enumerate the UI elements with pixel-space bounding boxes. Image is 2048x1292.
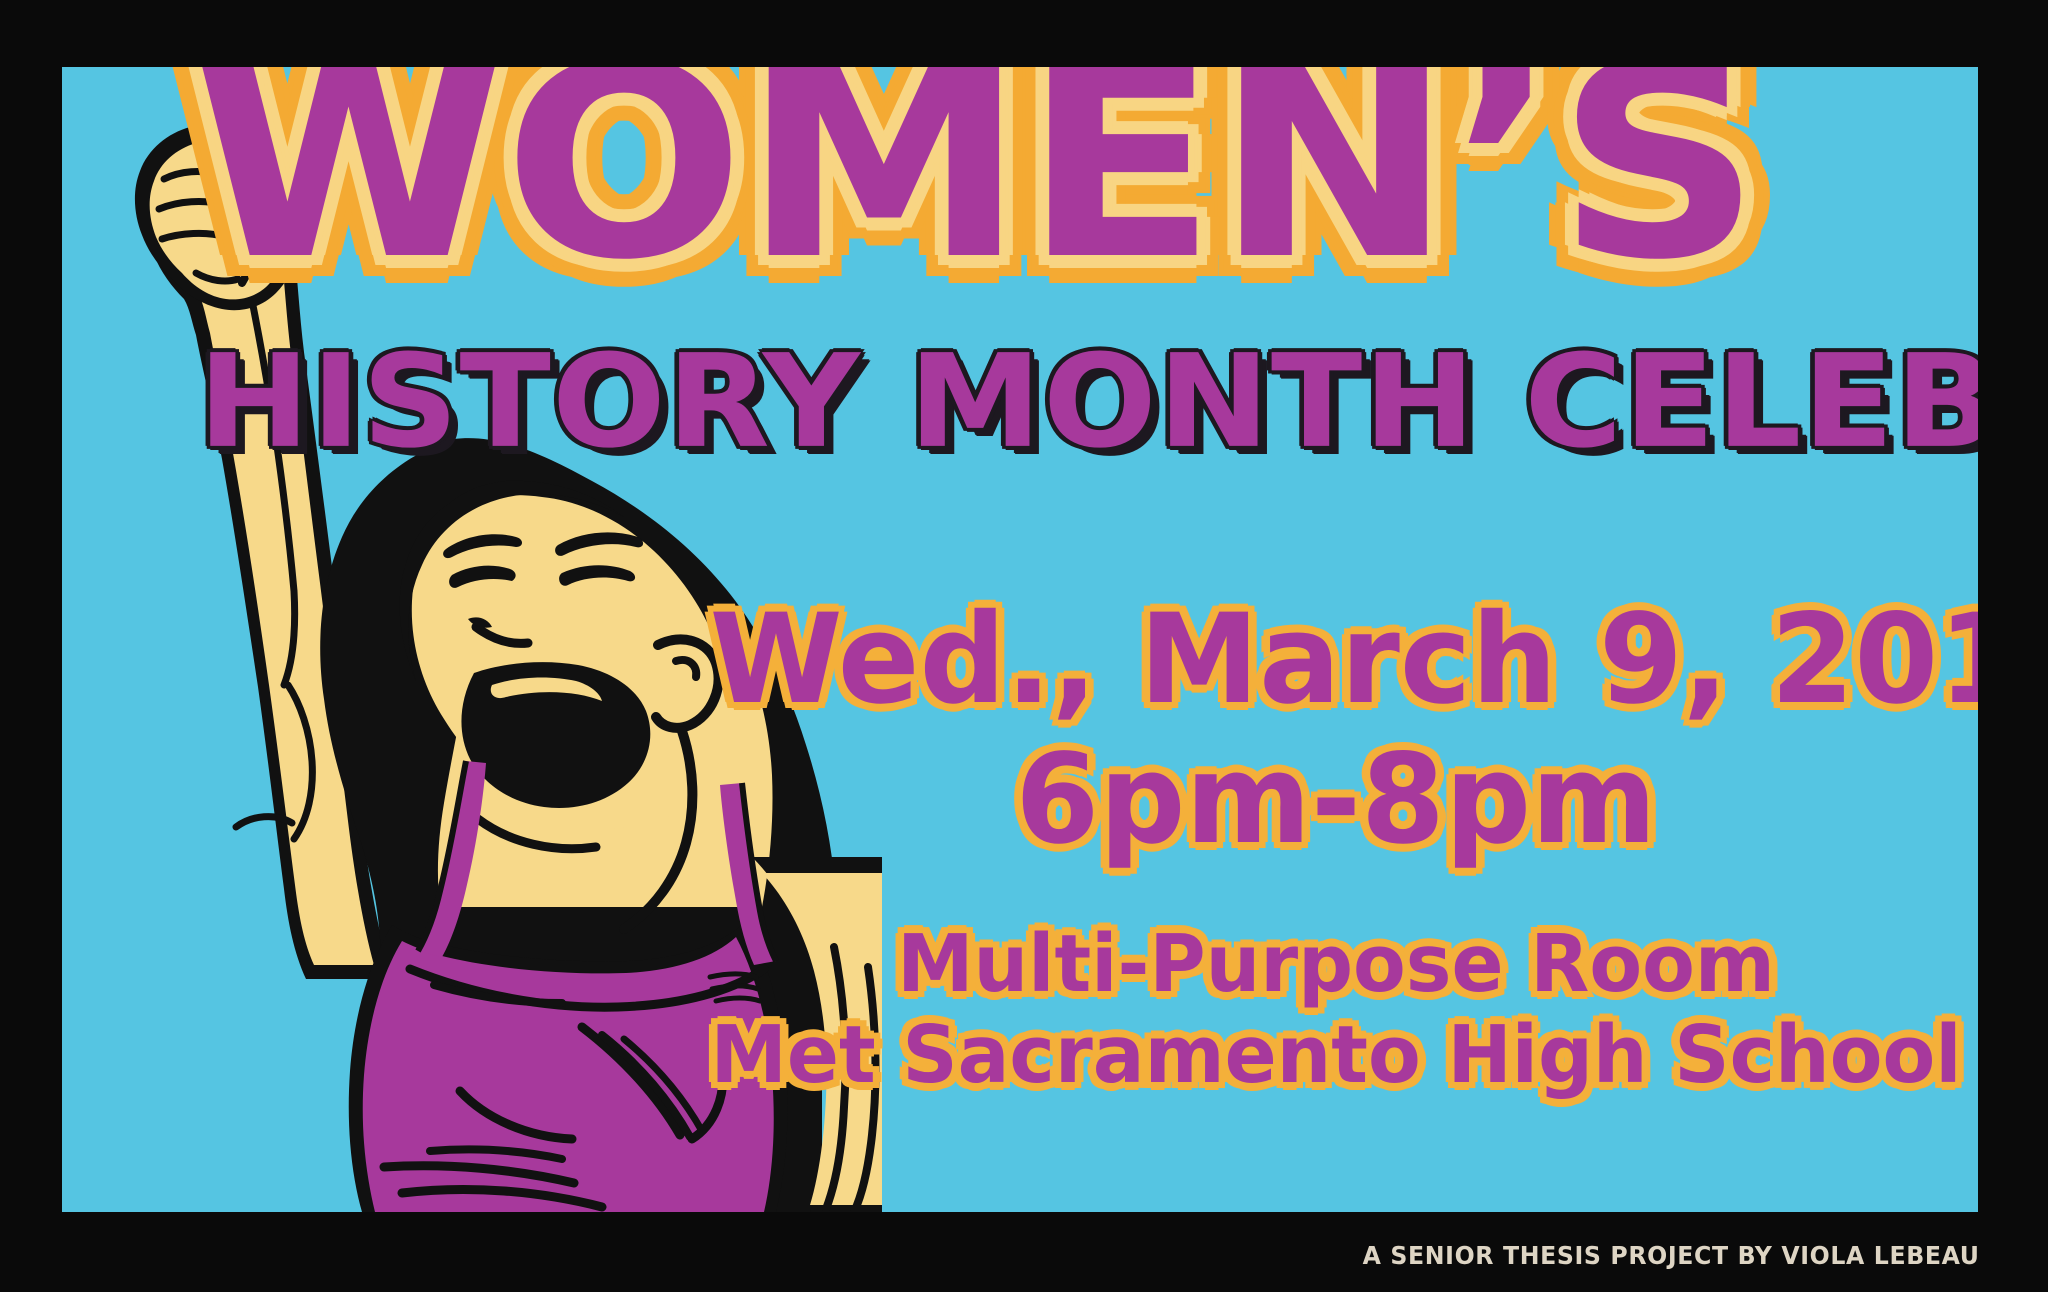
event-school: Met Sacramento High School [710,1015,1963,1096]
event-date: Wed., March 9, 2016 [710,597,1963,723]
woman-raised-fist-illustration [62,67,882,1212]
event-info-block: Wed., March 9, 2016 6pm-8pm Multi-Purpos… [756,597,1916,1095]
poster-panel: WOMEN’S HISTORY MONTH CELEBRATION Wed., … [62,67,1978,1212]
event-venue: Multi-Purpose Room [710,924,1963,1005]
illustration-artwork [135,124,882,1212]
poster-root: WOMEN’S HISTORY MONTH CELEBRATION Wed., … [0,0,2048,1292]
credit-line: A SENIOR THESIS PROJECT BY VIOLA LEBEAU [1363,1241,1980,1270]
event-time: 6pm-8pm [710,737,1963,863]
